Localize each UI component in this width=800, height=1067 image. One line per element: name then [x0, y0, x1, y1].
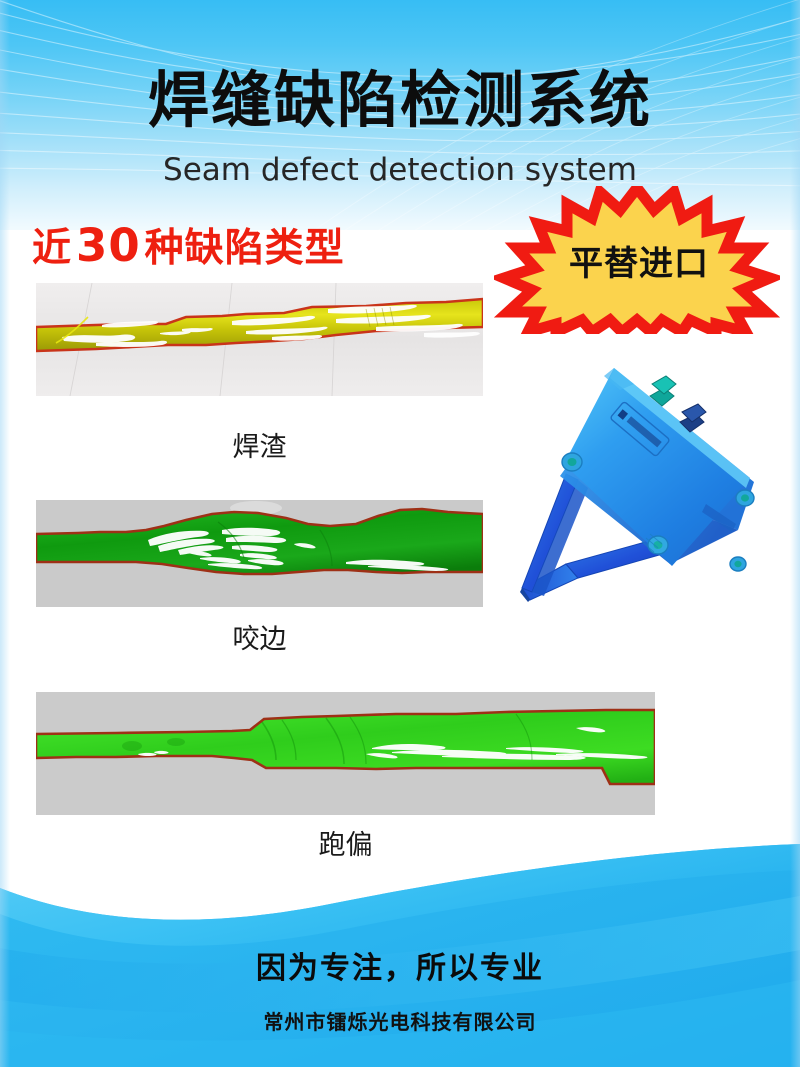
page-title: 焊缝缺陷检测系统 [0, 68, 800, 132]
footer-company-name: 常州市镭烁光电科技有限公司 [0, 1006, 800, 1035]
undercut-scan-image [36, 500, 483, 607]
defect-sample-1-frame [36, 283, 483, 396]
poster-root: 焊缝缺陷检测系统 Seam defect detection system 近3… [0, 0, 800, 1067]
defect-sample-3 [36, 692, 655, 815]
defect-sample-3-frame [36, 692, 655, 815]
import-substitute-badge: 平替进口 [494, 186, 780, 334]
scanner-device-icon [492, 352, 788, 618]
defect-sample-1 [36, 283, 483, 396]
weld-slag-scan-image [36, 283, 483, 396]
laser-scanner-device-image [492, 352, 788, 618]
defect-sample-2-frame [36, 500, 483, 607]
defect-sample-2-caption: 咬边 [36, 617, 483, 656]
headline-prefix: 近 [32, 227, 72, 270]
headline-number: 30 [72, 219, 145, 272]
headline-suffix: 种缺陷类型 [145, 227, 345, 270]
defect-sample-3-caption: 跑偏 [36, 823, 655, 862]
footer-slogan: 因为专注，所以专业 [0, 943, 800, 987]
badge-label: 平替进口 [494, 186, 780, 334]
defect-sample-1-caption: 焊渣 [36, 425, 483, 464]
defect-sample-2 [36, 500, 483, 607]
seam-deviation-scan-image [36, 692, 655, 815]
page-subtitle-english: Seam defect detection system [0, 152, 800, 188]
defect-count-headline: 近30种缺陷类型 [32, 217, 345, 273]
